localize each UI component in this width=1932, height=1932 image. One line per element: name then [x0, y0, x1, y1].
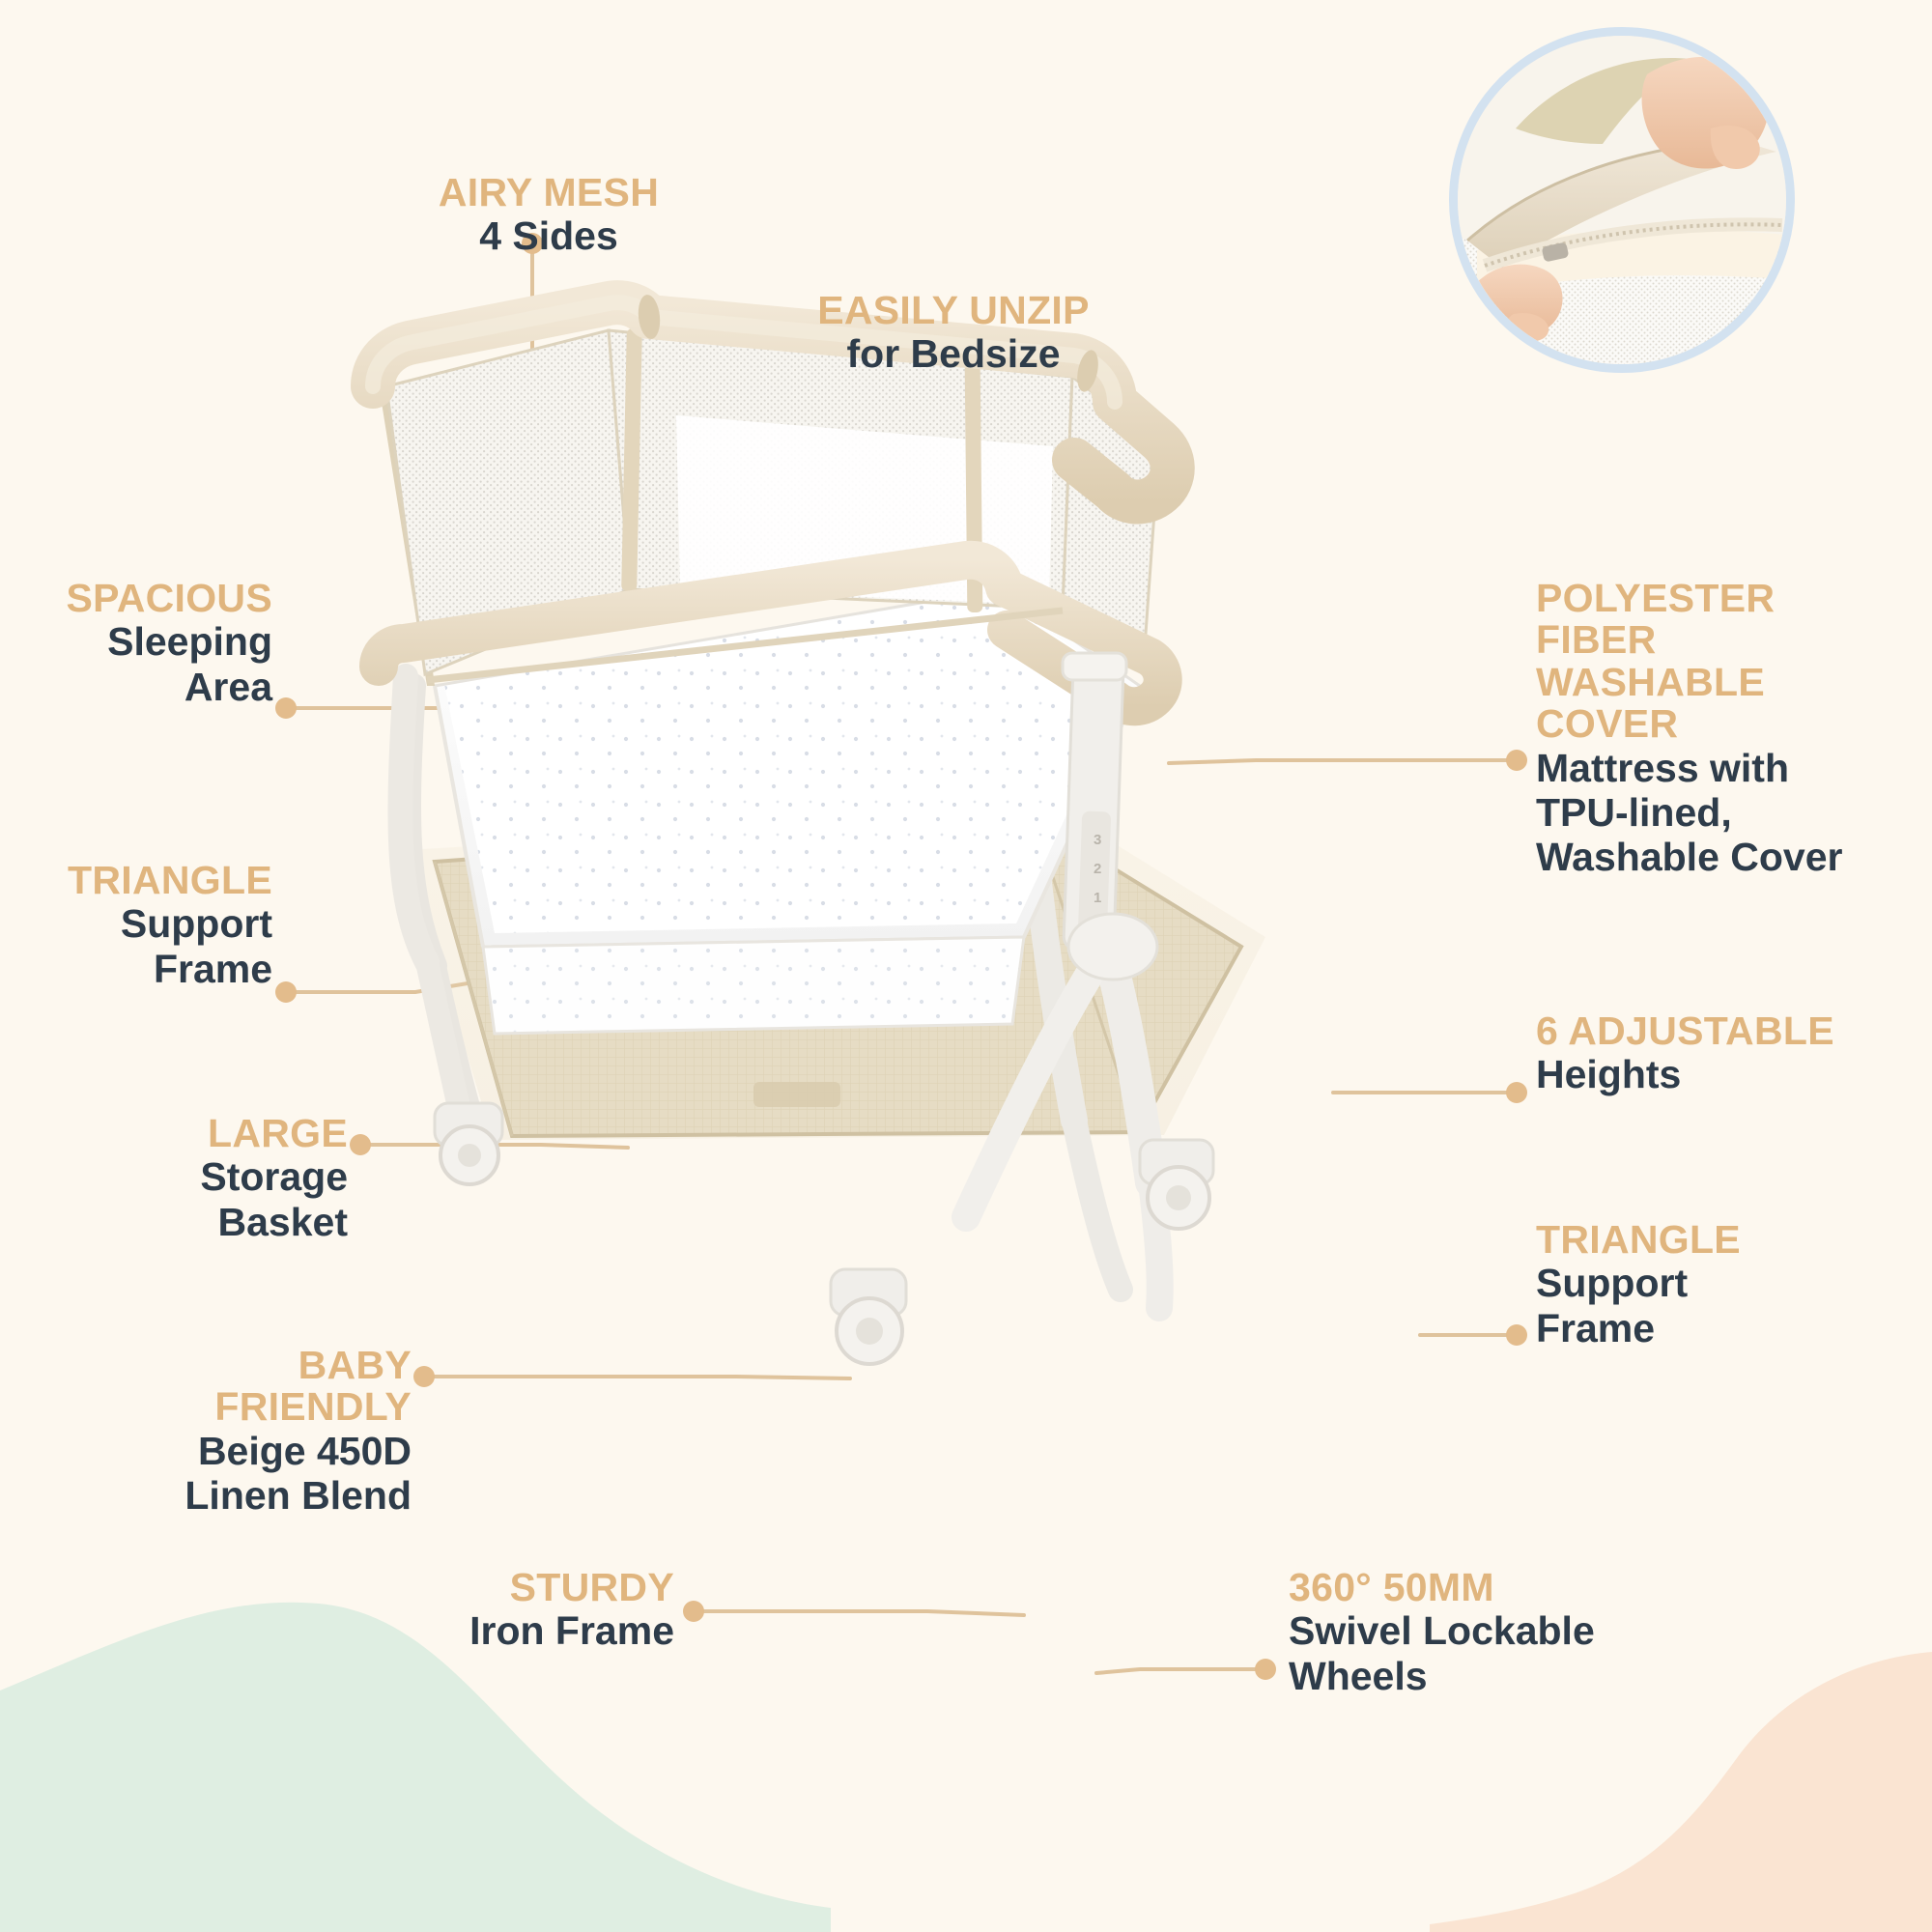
caster-wheel-far-right — [1124, 1283, 1194, 1325]
callout-sturdy-sub: Iron Frame — [415, 1608, 674, 1653]
callout-airy-mesh-sub: 4 Sides — [384, 213, 713, 258]
callout-polyester-highlight: POLYESTER FIBER WASHABLE COVER — [1536, 578, 1922, 746]
connector-dot-polyester — [1506, 750, 1527, 771]
callout-spacious-highlight: SPACIOUS — [19, 578, 272, 619]
callout-airy-mesh: AIRY MESH 4 Sides — [384, 172, 713, 259]
product-illustration-bassinet: 3 2 1 — [290, 270, 1430, 1391]
callout-baby-friendly-highlight: BABY FRIENDLY — [126, 1345, 412, 1429]
callout-triangle-right-sub: Support Frame — [1536, 1261, 1922, 1350]
caster-wheel-rear-left — [435, 1103, 502, 1184]
callout-easily-unzip: EASILY UNZIP for Bedsize — [784, 290, 1122, 377]
callout-wheels-highlight: 360° 50MM — [1289, 1567, 1704, 1608]
callout-adjustable-highlight: 6 ADJUSTABLE — [1536, 1010, 1922, 1052]
connector-dot-triangle-right — [1506, 1324, 1527, 1346]
caster-wheel-front — [831, 1269, 906, 1364]
callout-six-adjustable-heights: 6 ADJUSTABLE Heights — [1536, 1010, 1922, 1097]
callout-baby-friendly: BABY FRIENDLY Beige 450D Linen Blend — [126, 1345, 412, 1519]
callout-spacious-sleeping-area: SPACIOUS Sleeping Area — [19, 578, 272, 709]
callout-airy-mesh-highlight: AIRY MESH — [384, 172, 713, 213]
caster-wheel-right — [1140, 1140, 1213, 1229]
callout-swivel-lockable-wheels: 360° 50MM Swivel Lockable Wheels — [1289, 1567, 1704, 1698]
zipper-closeup-inset — [1449, 27, 1795, 373]
callout-adjustable-sub: Heights — [1536, 1052, 1922, 1096]
connector-dot-wheels — [1255, 1659, 1276, 1680]
svg-text:2: 2 — [1094, 861, 1101, 877]
callout-polyester-fiber-washable-cover: POLYESTER FIBER WASHABLE COVER Mattress … — [1536, 578, 1922, 880]
callout-wheels-sub: Swivel Lockable Wheels — [1289, 1608, 1704, 1698]
callout-polyester-sub: Mattress with TPU-lined, Washable Cover — [1536, 746, 1922, 880]
callout-easily-unzip-sub: for Bedsize — [784, 331, 1122, 376]
connector-dot-adjustable — [1506, 1082, 1527, 1103]
callout-sturdy-highlight: STURDY — [415, 1567, 674, 1608]
callout-spacious-sub: Sleeping Area — [19, 619, 272, 709]
callout-large-storage-basket: LARGE Storage Basket — [58, 1113, 348, 1244]
callout-sturdy-iron-frame: STURDY Iron Frame — [415, 1567, 674, 1654]
svg-text:3: 3 — [1094, 832, 1101, 848]
callout-triangle-left-sub: Support Frame — [19, 901, 272, 991]
infographic-canvas: 3 2 1 — [0, 0, 1932, 1932]
callout-baby-friendly-sub: Beige 450D Linen Blend — [126, 1429, 412, 1519]
svg-text:1: 1 — [1094, 890, 1101, 906]
callout-triangle-right-highlight: TRIANGLE — [1536, 1219, 1922, 1261]
support-joint-hub — [1068, 914, 1157, 980]
callout-large-highlight: LARGE — [58, 1113, 348, 1154]
callout-large-sub: Storage Basket — [58, 1154, 348, 1244]
callout-triangle-left-highlight: TRIANGLE — [19, 860, 272, 901]
callout-triangle-support-frame-right: TRIANGLE Support Frame — [1536, 1219, 1922, 1350]
callout-easily-unzip-highlight: EASILY UNZIP — [784, 290, 1122, 331]
callout-triangle-support-frame-left: TRIANGLE Support Frame — [19, 860, 272, 991]
mattress-side-panel — [483, 937, 1024, 1034]
